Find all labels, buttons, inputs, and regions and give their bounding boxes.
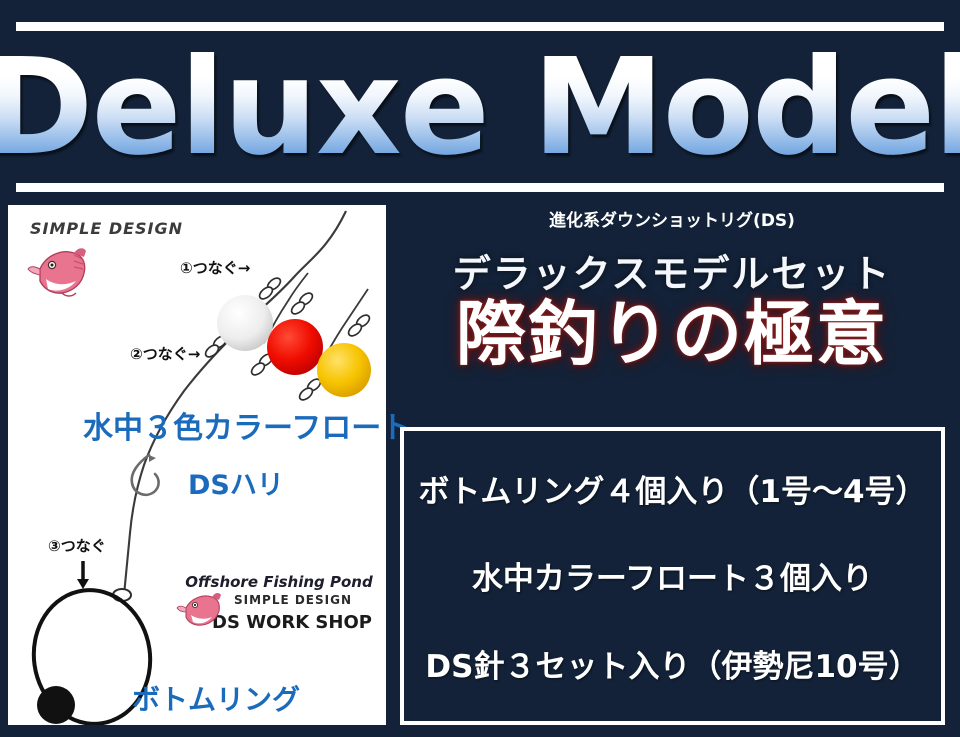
- title-banner: Deluxe Model: [0, 34, 960, 182]
- hook-label: DSハリ: [188, 463, 284, 502]
- simple-design-label: SIMPLE DESIGN: [30, 219, 183, 238]
- brand-fish-icon: [176, 589, 222, 629]
- spec-line-1: ボトムリング４個入り（1号～4号）: [418, 466, 926, 511]
- page-title: Deluxe Model: [0, 42, 960, 175]
- bottom-ring-sinker: [37, 686, 75, 724]
- bottom-ring-label: ボトムリング: [132, 678, 300, 718]
- yellow-float: [317, 343, 371, 397]
- spec-contents-box: ボトムリング４個入り（1号～4号） 水中カラーフロート３個入り DS針３セット入…: [400, 427, 945, 725]
- promo-subtitle: デラックスモデルセット: [398, 243, 946, 298]
- promo-kicker: 進化系ダウンショットリグ(DS): [398, 206, 946, 231]
- poster-root: Deluxe Model: [0, 0, 960, 737]
- hook-barb: [149, 455, 156, 462]
- step-2-label: ②つなぐ→: [130, 343, 200, 364]
- brand-logo-block: Offshore Fishing Pond SIMPLE DESIGN DS W…: [176, 573, 382, 633]
- red-float: [267, 319, 323, 375]
- sea-bream-fish-icon: [26, 243, 88, 299]
- step3-arrow: [77, 561, 89, 589]
- spec-line-2: 水中カラーフロート３個入り: [472, 553, 873, 598]
- white-float: [217, 295, 273, 351]
- spec-line-3: DS針３セット入り（伊勢尼10号）: [425, 641, 919, 686]
- header-top-rule: [16, 22, 944, 31]
- rig-diagram-panel: SIMPLE DESIGN ①つなぐ→ ②つなぐ→ ③つなぐ 水中３色カラーフロ…: [8, 205, 386, 725]
- promo-headline: 際釣りの極意: [398, 298, 946, 372]
- step-1-label: ①つなぐ→: [180, 257, 250, 278]
- float-label: 水中３色カラーフロート: [83, 403, 411, 447]
- step-3-label: ③つなぐ: [48, 535, 106, 556]
